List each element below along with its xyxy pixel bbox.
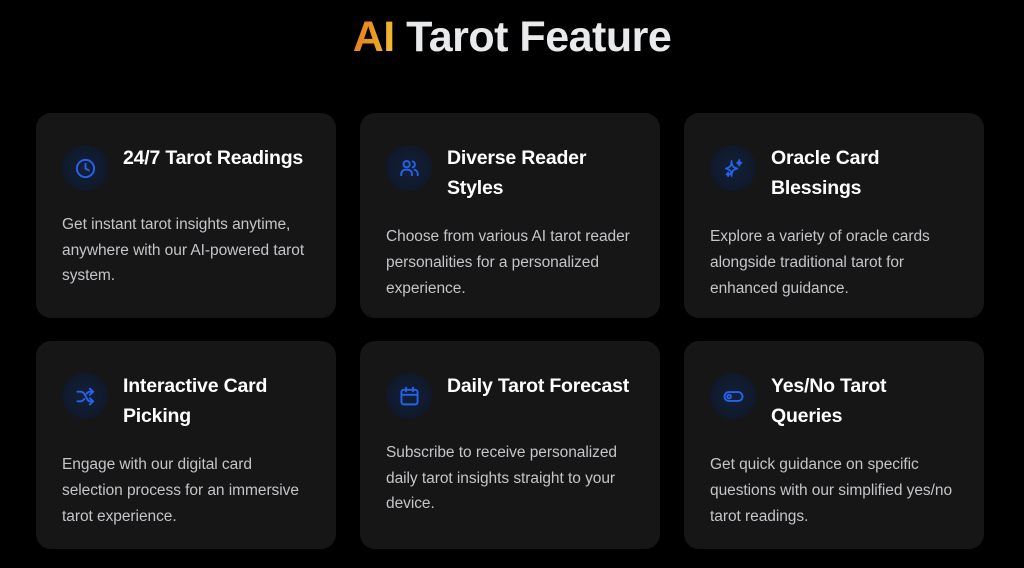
feature-section: AI Tarot Feature 24/7 Tarot Readings Get…: [0, 0, 1024, 568]
feature-card[interactable]: Diverse Reader Styles Choose from variou…: [360, 113, 660, 318]
feature-card-header: 24/7 Tarot Readings: [62, 143, 310, 191]
feature-card-description: Get instant tarot insights anytime, anyw…: [62, 212, 310, 289]
clock-icon: [62, 145, 108, 191]
sparkles-icon: [710, 145, 756, 191]
feature-card-header: Oracle Card Blessings: [710, 143, 958, 203]
feature-card[interactable]: Daily Tarot Forecast Subscribe to receiv…: [360, 341, 660, 549]
feature-card[interactable]: Yes/No Tarot Queries Get quick guidance …: [684, 341, 984, 549]
feature-card-title: Yes/No Tarot Queries: [771, 371, 958, 431]
feature-card-header: Daily Tarot Forecast: [386, 371, 634, 419]
page-title-rest: Tarot Feature: [395, 13, 672, 61]
users-icon: [386, 145, 432, 191]
feature-card-description: Explore a variety of oracle cards alongs…: [710, 224, 958, 301]
feature-card-description: Get quick guidance on specific questions…: [710, 452, 958, 529]
page-title-accent: AI: [353, 13, 395, 61]
shuffle-icon: [62, 373, 108, 419]
feature-card-title: Daily Tarot Forecast: [447, 371, 629, 402]
feature-card-description: Choose from various AI tarot reader pers…: [386, 224, 634, 301]
feature-card-title: 24/7 Tarot Readings: [123, 143, 303, 174]
page-title: AI Tarot Feature: [0, 13, 1024, 62]
feature-card[interactable]: Oracle Card Blessings Explore a variety …: [684, 113, 984, 318]
calendar-icon: [386, 373, 432, 419]
feature-card-description: Subscribe to receive personalized daily …: [386, 440, 634, 517]
feature-card-header: Interactive Card Picking: [62, 371, 310, 431]
feature-card-header: Diverse Reader Styles: [386, 143, 634, 203]
feature-card-header: Yes/No Tarot Queries: [710, 371, 958, 431]
feature-card-title: Interactive Card Picking: [123, 371, 310, 431]
feature-card[interactable]: 24/7 Tarot Readings Get instant tarot in…: [36, 113, 336, 318]
feature-card-title: Oracle Card Blessings: [771, 143, 958, 203]
toggle-icon: [710, 373, 756, 419]
feature-card-title: Diverse Reader Styles: [447, 143, 634, 203]
feature-card[interactable]: Interactive Card Picking Engage with our…: [36, 341, 336, 549]
feature-card-grid: 24/7 Tarot Readings Get instant tarot in…: [36, 113, 988, 549]
feature-card-description: Engage with our digital card selection p…: [62, 452, 310, 529]
